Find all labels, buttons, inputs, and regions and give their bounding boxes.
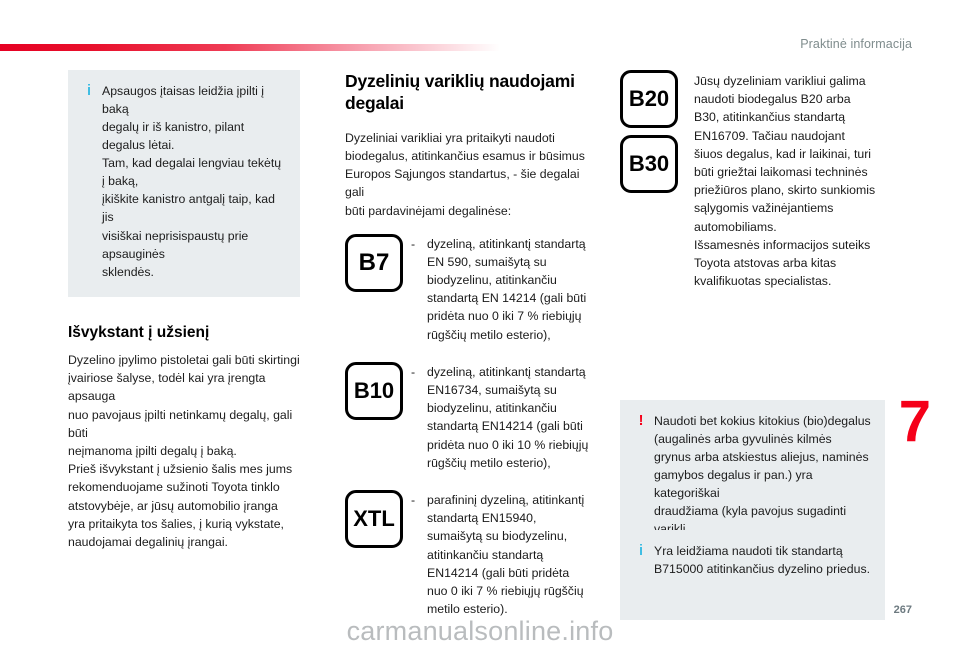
warning-icon: !: [633, 412, 649, 432]
right-info-notice: i Yra leidžiama naudoti tik standartą B7…: [620, 530, 885, 620]
left-column: i Apsaugos įtaisas leidžia įpilti į baką…: [68, 70, 300, 551]
fuel-badge-b20: B20: [620, 70, 678, 128]
chapter-title: Praktinė informacija: [800, 37, 912, 51]
fuel-item-b10-description: dyzeliną, atitinkantį standartą EN16734,…: [427, 362, 595, 472]
fuel-item-b10: B10 - dyzeliną, atitinkantį standartą EN…: [345, 362, 595, 472]
fuel-item-dash: -: [411, 234, 427, 253]
fuel-badge-b7: B7: [345, 234, 403, 292]
biodiesel-description: Jūsų dyzeliniam varikliui galima naudoti…: [694, 70, 885, 290]
middle-column: Dyzelinių variklių naudojami degalai Dyz…: [345, 70, 595, 618]
right-info-notice-text: Yra leidžiama naudoti tik standartą B715…: [654, 542, 870, 578]
fuel-badge-b30: B30: [620, 135, 678, 193]
info-icon: i: [633, 542, 649, 562]
page-number: 267: [894, 604, 912, 616]
page-title: Dyzelinių variklių naudojami degalai: [345, 70, 595, 115]
chapter-number: 7: [899, 393, 930, 451]
fuel-badge-xtl: XTL: [345, 490, 403, 548]
fuel-item-b7-description: dyzeliną, atitinkantį standartą EN 590, …: [427, 234, 595, 344]
left-info-notice: i Apsaugos įtaisas leidžia įpilti į baką…: [68, 70, 300, 297]
watermark: carmanualsonline.info: [0, 616, 960, 647]
info-icon: i: [81, 82, 97, 102]
biodiesel-badge-stack: B20 B30: [620, 70, 678, 193]
fuel-item-b7: B7 - dyzeliną, atitinkantį standartą EN …: [345, 234, 595, 344]
left-info-notice-text: Apsaugos įtaisas leidžia įpilti į baką d…: [102, 82, 286, 281]
right-info-notice-wrapper: i Yra leidžiama naudoti tik standartą B7…: [620, 530, 885, 620]
fuel-badge-b10: B10: [345, 362, 403, 420]
abroad-section-heading: Išvykstant į užsienį: [68, 323, 300, 342]
fuel-item-xtl: XTL - parafininį dyzeliną, atitinkantį s…: [345, 490, 595, 618]
fuel-item-dash: -: [411, 490, 427, 509]
biodiesel-badge-row: B20 B30 Jūsų dyzeliniam varikliui galima…: [620, 70, 885, 290]
fuel-item-dash: -: [411, 362, 427, 381]
fuel-item-xtl-description: parafininį dyzeliną, atitinkantį standar…: [427, 490, 595, 618]
abroad-section-body: Dyzelino įpylimo pistoletai gali būti sk…: [68, 351, 300, 551]
diesel-intro-text: Dyzeliniai varikliai yra pritaikyti naud…: [345, 129, 595, 220]
right-column: B20 B30 Jūsų dyzeliniam varikliui galima…: [620, 70, 885, 290]
header-accent-rule: [0, 44, 500, 51]
